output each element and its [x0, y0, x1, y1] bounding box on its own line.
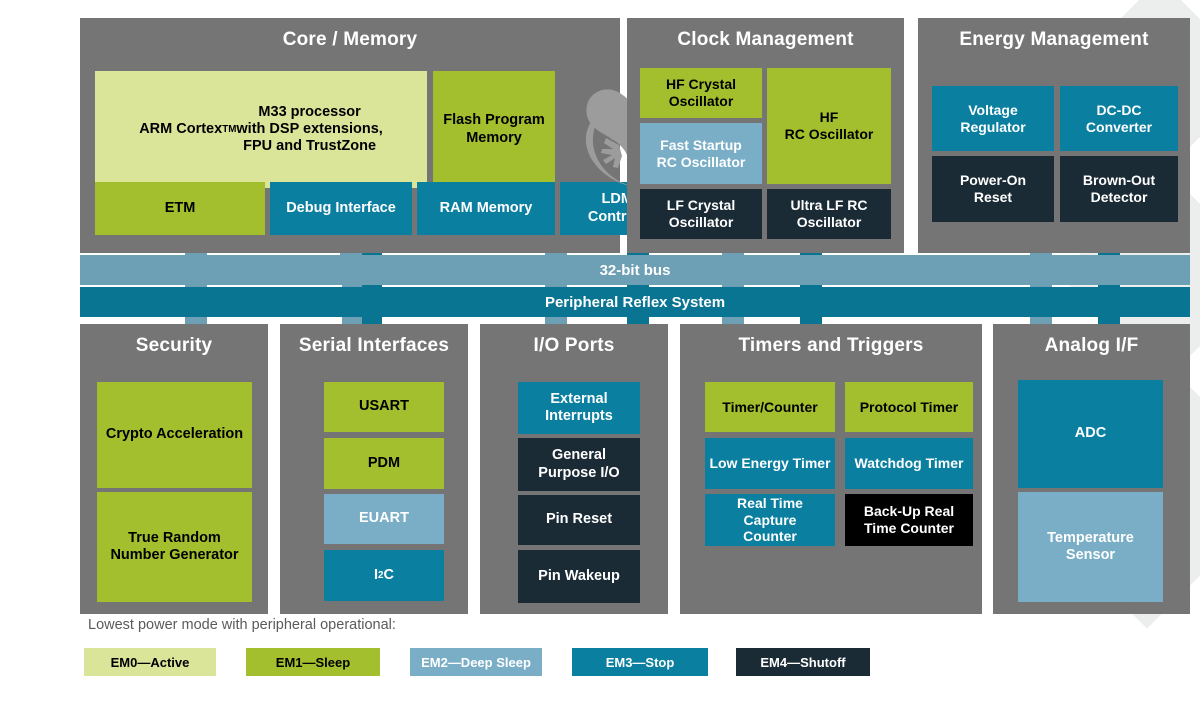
block-fast-startup-rc-oscillator[interactable]: Fast StartupRC Oscillator — [640, 123, 762, 184]
panel-title-io-ports: I/O Ports — [480, 324, 668, 355]
panel-clock-management: Clock Management HF CrystalOscillator HF… — [627, 18, 904, 253]
block-hf-rc-oscillator[interactable]: HFRC Oscillator — [767, 68, 891, 184]
panel-timers-and-triggers: Timers and Triggers Timer/Counter Protoc… — [680, 324, 982, 614]
block-euart[interactable]: EUART — [324, 494, 444, 544]
legend-caption: Lowest power mode with peripheral operat… — [88, 617, 396, 633]
block-debug-interface[interactable]: Debug Interface — [270, 182, 412, 235]
block-ram-memory[interactable]: RAM Memory — [417, 182, 555, 235]
panel-analog-if: Analog I/F ADC Temperature Sensor — [993, 324, 1190, 614]
block-voltage-regulator[interactable]: VoltageRegulator — [932, 86, 1054, 151]
panel-core-memory: Core / Memory ARM CortexTM M33 processor… — [80, 18, 620, 253]
block-watchdog-timer[interactable]: Watchdog Timer — [845, 438, 973, 489]
legend-item-em3[interactable]: EM3—Stop — [572, 648, 708, 676]
block-lf-crystal-oscillator[interactable]: LF CrystalOscillator — [640, 189, 762, 239]
panel-title-core-memory: Core / Memory — [80, 18, 620, 49]
panel-title-analog-if: Analog I/F — [993, 324, 1190, 355]
bus-32-bit[interactable]: 32-bit bus — [80, 255, 1190, 285]
panel-io-ports: I/O Ports ExternalInterrupts GeneralPurp… — [480, 324, 668, 614]
block-low-energy-timer[interactable]: Low Energy Timer — [705, 438, 835, 489]
panel-energy-management: Energy Management VoltageRegulator DC-DC… — [918, 18, 1190, 253]
bus-label-32-bit: 32-bit bus — [600, 262, 671, 279]
block-temperature-sensor[interactable]: Temperature Sensor — [1018, 492, 1163, 602]
panel-security: Security Crypto Acceleration True Random… — [80, 324, 268, 614]
block-flash-program-memory[interactable]: Flash ProgramMemory — [433, 71, 555, 188]
block-crypto-acceleration[interactable]: Crypto Acceleration — [97, 382, 252, 488]
block-true-random-number-generator[interactable]: True RandomNumber Generator — [97, 492, 252, 602]
block-brown-out-detector[interactable]: Brown-OutDetector — [1060, 156, 1178, 222]
block-adc[interactable]: ADC — [1018, 380, 1163, 488]
block-pdm[interactable]: PDM — [324, 438, 444, 489]
block-hf-crystal-oscillator[interactable]: HF CrystalOscillator — [640, 68, 762, 118]
panel-title-security: Security — [80, 324, 268, 355]
block-timer-counter[interactable]: Timer/Counter — [705, 382, 835, 432]
block-back-up-real-time-counter[interactable]: Back-Up RealTime Counter — [845, 494, 973, 546]
block-i2c[interactable]: I2C — [324, 550, 444, 601]
panel-title-clock-management: Clock Management — [627, 18, 904, 49]
block-etm[interactable]: ETM — [95, 182, 265, 235]
block-real-time-capture-counter[interactable]: Real Time CaptureCounter — [705, 494, 835, 546]
panel-serial-interfaces: Serial Interfaces USART PDM EUART I2C — [280, 324, 468, 614]
block-power-on-reset[interactable]: Power-OnReset — [932, 156, 1054, 222]
bus-label-peripheral-reflex-system: Peripheral Reflex System — [545, 294, 725, 311]
legend-item-em0[interactable]: EM0—Active — [84, 648, 216, 676]
legend-item-em1[interactable]: EM1—Sleep — [246, 648, 380, 676]
legend-item-em4[interactable]: EM4—Shutoff — [736, 648, 870, 676]
block-dc-dc-converter[interactable]: DC-DCConverter — [1060, 86, 1178, 151]
block-protocol-timer[interactable]: Protocol Timer — [845, 382, 973, 432]
panel-title-timers-and-triggers: Timers and Triggers — [680, 324, 982, 355]
block-ultra-lf-rc-oscillator[interactable]: Ultra LF RCOscillator — [767, 189, 891, 239]
panel-title-energy-management: Energy Management — [918, 18, 1190, 49]
panel-title-serial-interfaces: Serial Interfaces — [280, 324, 468, 355]
block-external-interrupts[interactable]: ExternalInterrupts — [518, 382, 640, 434]
block-general-purpose-io[interactable]: GeneralPurpose I/O — [518, 438, 640, 491]
block-pin-wakeup[interactable]: Pin Wakeup — [518, 550, 640, 603]
block-usart[interactable]: USART — [324, 382, 444, 432]
block-arm-cortex-m33[interactable]: ARM CortexTM M33 processorwith DSP exten… — [95, 71, 427, 188]
block-pin-reset[interactable]: Pin Reset — [518, 495, 640, 545]
legend-item-em2[interactable]: EM2—Deep Sleep — [410, 648, 542, 676]
bus-peripheral-reflex-system[interactable]: Peripheral Reflex System — [80, 287, 1190, 317]
